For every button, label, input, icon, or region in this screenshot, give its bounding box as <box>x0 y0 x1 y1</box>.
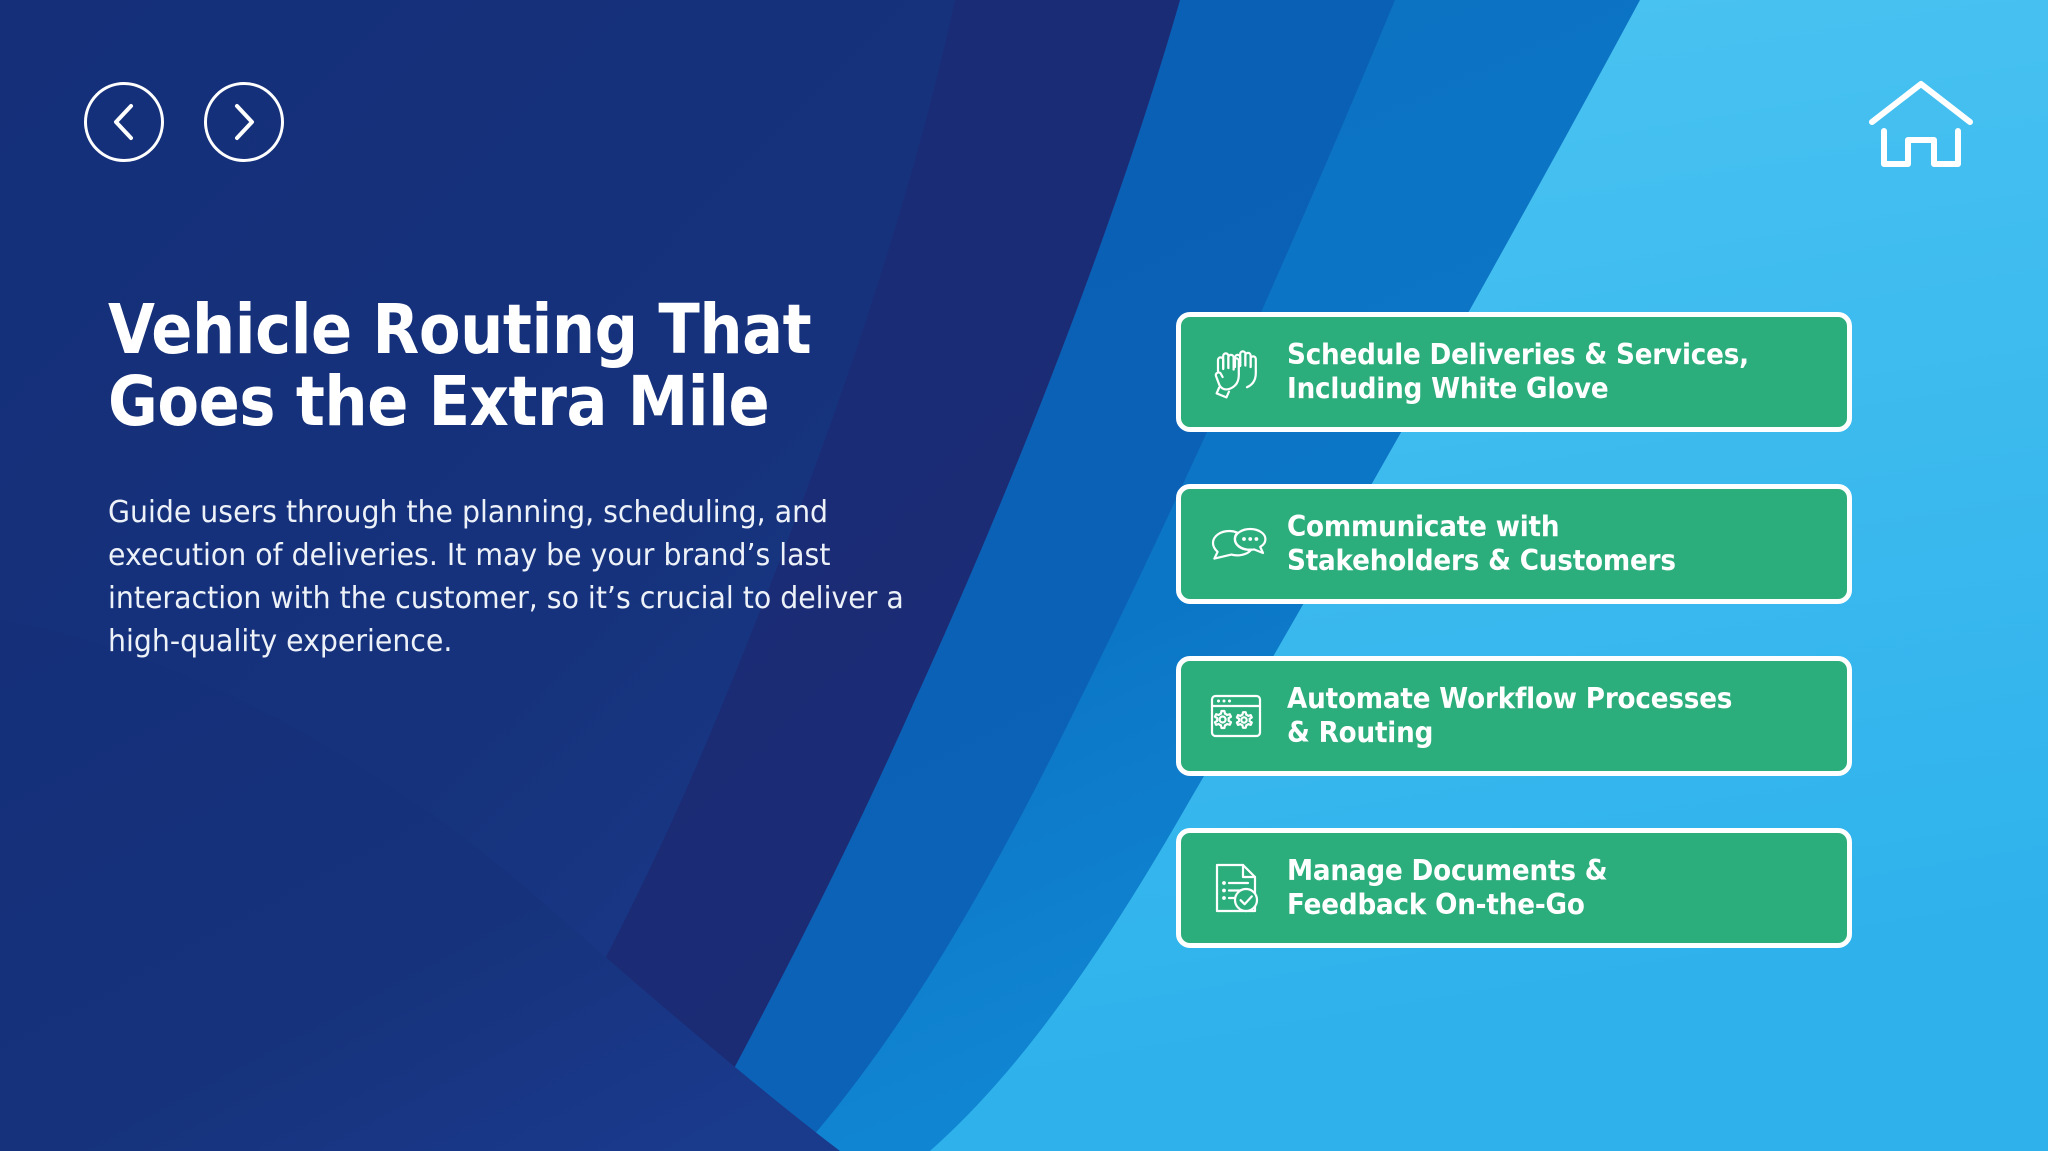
document-check-icon <box>1203 855 1269 921</box>
feature-card[interactable]: Communicate with Stakeholders & Customer… <box>1176 484 1852 604</box>
browser-gears-icon <box>1203 683 1269 749</box>
feature-card[interactable]: Automate Workflow Processes & Routing <box>1176 656 1852 776</box>
page-title: Vehicle Routing That Goes the Extra Mile <box>108 295 882 439</box>
feature-card-label: Communicate with Stakeholders & Customer… <box>1287 510 1676 578</box>
feature-card-label: Schedule Deliveries & Services, Includin… <box>1287 338 1749 406</box>
feature-card-label: Manage Documents & Feedback On-the-Go <box>1287 854 1607 922</box>
prev-slide-button[interactable] <box>84 82 164 162</box>
slide-navigation <box>84 82 284 162</box>
feature-card-label: Automate Workflow Processes & Routing <box>1287 682 1732 750</box>
home-button[interactable] <box>1866 78 1976 170</box>
text-column: Vehicle Routing That Goes the Extra Mile… <box>108 295 988 664</box>
gloves-icon <box>1203 339 1269 405</box>
chevron-left-icon <box>107 101 141 143</box>
feature-card-list: Schedule Deliveries & Services, Includin… <box>1176 312 1852 948</box>
chevron-right-icon <box>227 101 261 143</box>
home-icon <box>1866 78 1976 170</box>
next-slide-button[interactable] <box>204 82 284 162</box>
feature-card[interactable]: Manage Documents & Feedback On-the-Go <box>1176 828 1852 948</box>
body-paragraph: Guide users through the planning, schedu… <box>108 491 926 664</box>
feature-card[interactable]: Schedule Deliveries & Services, Includin… <box>1176 312 1852 432</box>
speech-bubbles-icon <box>1203 511 1269 577</box>
slide-root: Vehicle Routing That Goes the Extra Mile… <box>0 0 2048 1151</box>
